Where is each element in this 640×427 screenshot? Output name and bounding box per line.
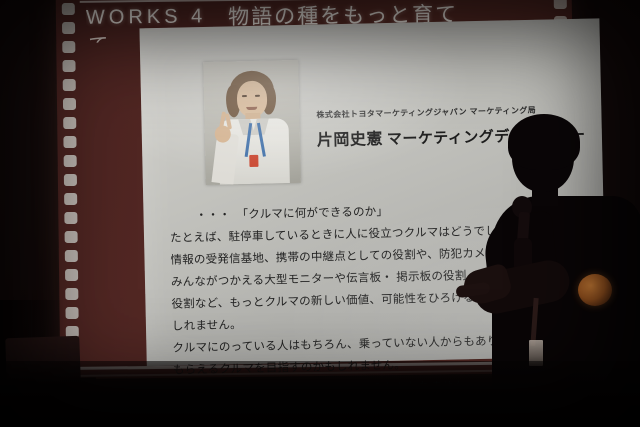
photo-id-badge [249, 155, 258, 167]
profile-person-role: マーケティングディレクター [387, 127, 586, 148]
sprocket-hole [63, 136, 76, 148]
sprocket-hole [64, 193, 77, 205]
sprocket-hole [63, 155, 76, 167]
profile-photo [203, 60, 301, 185]
sprocket-hole [65, 269, 78, 281]
photo-eye-right [255, 95, 260, 97]
slide-title-works-label: WORKS 4 [86, 5, 207, 29]
photo-scene: WORKS 4 物語の種をもっと育て て [0, 0, 640, 427]
projected-slide-frame: WORKS 4 物語の種をもっと育て て [56, 0, 577, 379]
sprocket-hole [65, 288, 78, 300]
profile-person: 片岡史憲マーケティングディレクター [317, 121, 587, 151]
sprocket-hole [61, 22, 74, 34]
sprocket-hole [62, 98, 75, 110]
sprocket-hole [63, 174, 76, 186]
photo-mouth [246, 107, 257, 110]
sprocket-hole [63, 117, 76, 129]
photo-face [237, 81, 268, 118]
sprocket-hole [553, 0, 566, 9]
sprocket-hole [62, 41, 75, 53]
profile-name-block: 株式会社トヨタマーケティングジャパン マーケティング局 片岡史憲マーケティングデ… [316, 104, 587, 151]
sprocket-hole [61, 3, 74, 15]
slide-title-wrapped-tail: て [88, 29, 108, 43]
slide-content-area: 株式会社トヨタマーケティングジャパン マーケティング局 片岡史憲マーケティングデ… [139, 18, 606, 366]
sprocket-hole [65, 307, 78, 319]
profile-person-name: 片岡史憲 [317, 131, 383, 149]
sprocket-hole [64, 231, 77, 243]
sprocket-hole [62, 79, 75, 91]
sprocket-hole [64, 212, 77, 224]
foreground-bottom-darkness [0, 361, 640, 427]
sprocket-hole [62, 60, 75, 72]
sprocket-hole [64, 250, 77, 262]
photo-eye-left [242, 95, 247, 97]
profile-company: 株式会社トヨタマーケティングジャパン マーケティング局 [316, 104, 586, 121]
